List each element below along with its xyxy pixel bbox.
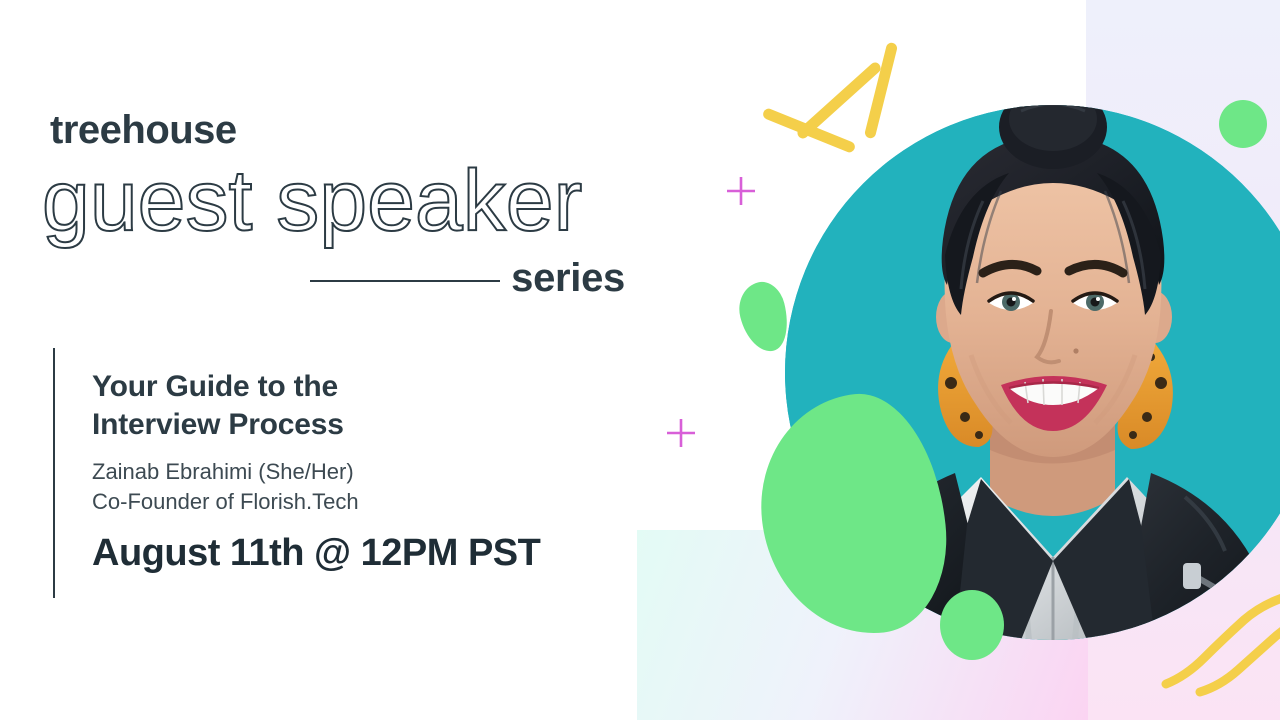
series-rule-divider: [310, 280, 500, 282]
vertical-divider: [53, 348, 55, 598]
slide-canvas: treehouse guest speaker series Your Guid…: [0, 0, 1280, 720]
text-column: treehouse guest speaker series Your Guid…: [0, 0, 660, 720]
event-datetime: August 11th @ 12PM PST: [92, 532, 632, 575]
event-title: Your Guide to the Interview Process: [92, 368, 632, 445]
brand-wordmark: treehouse: [50, 108, 237, 153]
green-circle-topright-icon: [1219, 100, 1267, 148]
event-details: Your Guide to the Interview Process Zain…: [92, 368, 632, 575]
plus-mark-top-icon: [724, 174, 758, 208]
series-row: series: [310, 256, 625, 302]
plus-mark-middle-icon: [664, 416, 698, 450]
speaker-role: Co-Founder of Florish.Tech: [92, 487, 632, 517]
yellow-squiggle-icon: [1160, 590, 1280, 720]
speaker-name: Zainab Ebrahimi (She/Her): [92, 457, 632, 487]
headline-outline-text: guest speaker: [42, 158, 582, 244]
series-label: series: [511, 256, 625, 301]
green-circle-bottom-icon: [940, 590, 1004, 660]
